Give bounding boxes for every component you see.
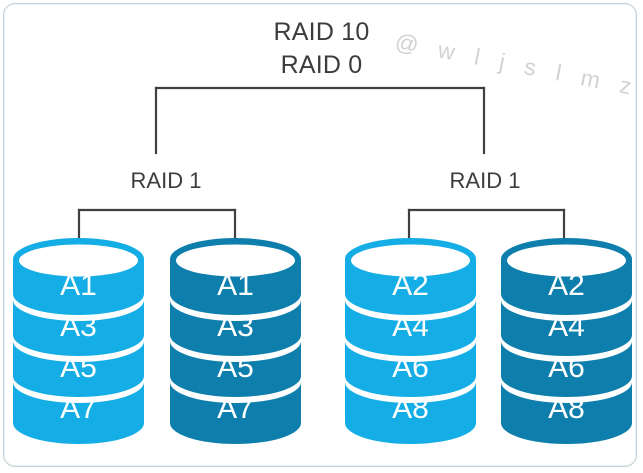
disk-cylinder: A1A3A5A7 <box>170 238 301 444</box>
disk-block-label: A5 <box>217 351 254 384</box>
disk-block-label: A4 <box>548 310 585 343</box>
disk-block-label: A3 <box>60 310 97 343</box>
disk-block-label: A4 <box>392 310 429 343</box>
disk-cylinder: A2A4A6A8 <box>345 238 476 444</box>
raid10-diagram-canvas: A1A3A5A7A1A3A5A7A2A4A6A8A2A4A6A8 RAID 10… <box>0 0 643 473</box>
disk-cylinder: A2A4A6A8 <box>501 238 632 444</box>
disk-block-label: A2 <box>392 269 429 302</box>
disk-block-label: A2 <box>548 269 585 302</box>
disk-block-label: A1 <box>217 269 254 302</box>
disk-block-label: A1 <box>60 269 97 302</box>
disk-block-label: A6 <box>548 351 585 384</box>
disk-block-label: A8 <box>392 392 429 425</box>
disk-block-label: A7 <box>217 392 254 425</box>
disk-block-label: A6 <box>392 351 429 384</box>
disk-block-label: A5 <box>60 351 97 384</box>
disk-block-label: A3 <box>217 310 254 343</box>
disk-stack-group: A1A3A5A7A1A3A5A7A2A4A6A8A2A4A6A8 <box>0 0 643 473</box>
disk-cylinder: A1A3A5A7 <box>13 238 144 444</box>
disk-block-label: A7 <box>60 392 97 425</box>
disk-block-label: A8 <box>548 392 585 425</box>
